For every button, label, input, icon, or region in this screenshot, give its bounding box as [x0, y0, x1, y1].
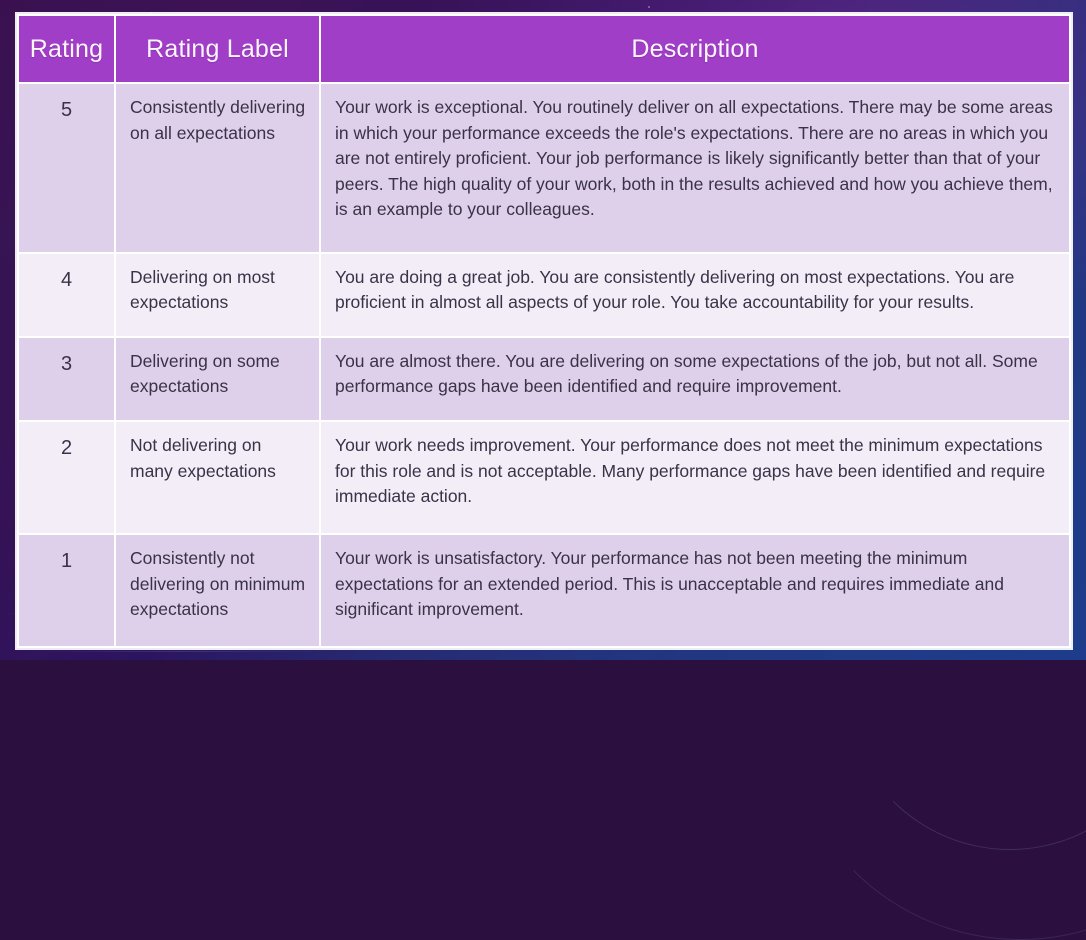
cell-description: You are almost there. You are delivering…	[320, 337, 1070, 421]
column-header-rating: Rating	[18, 15, 115, 83]
cell-rating-label: Consistently not delivering on minimum e…	[115, 534, 320, 647]
cell-rating: 3	[18, 337, 115, 421]
cell-rating: 1	[18, 534, 115, 647]
decorative-speck	[648, 6, 650, 8]
cell-rating-label: Not delivering on many expectations	[115, 421, 320, 534]
cell-rating-label: Consistently delivering on all expectati…	[115, 83, 320, 253]
table-row: 4 Delivering on most expectations You ar…	[18, 253, 1070, 337]
table-header-row: Rating Rating Label Description	[18, 15, 1070, 83]
decorative-streak	[30, 651, 330, 652]
rating-scale-table-container: Rating Rating Label Description 5 Consis…	[17, 14, 1069, 648]
table-row: 5 Consistently delivering on all expecta…	[18, 83, 1070, 253]
table-header: Rating Rating Label Description	[18, 15, 1070, 83]
cell-rating: 4	[18, 253, 115, 337]
cell-description: Your work is exceptional. You routinely …	[320, 83, 1070, 253]
cell-description: You are doing a great job. You are consi…	[320, 253, 1070, 337]
column-header-description: Description	[320, 15, 1070, 83]
table-body: 5 Consistently delivering on all expecta…	[18, 83, 1070, 647]
column-header-rating-label: Rating Label	[115, 15, 320, 83]
cell-description: Your work needs improvement. Your perfor…	[320, 421, 1070, 534]
cell-rating-label: Delivering on most expectations	[115, 253, 320, 337]
cell-rating-label: Delivering on some expectations	[115, 337, 320, 421]
rating-scale-table: Rating Rating Label Description 5 Consis…	[17, 14, 1071, 648]
cell-rating: 2	[18, 421, 115, 534]
table-row: 2 Not delivering on many expectations Yo…	[18, 421, 1070, 534]
cell-description: Your work is unsatisfactory. Your perfor…	[320, 534, 1070, 647]
table-row: 3 Delivering on some expectations You ar…	[18, 337, 1070, 421]
cell-rating: 5	[18, 83, 115, 253]
table-row: 1 Consistently not delivering on minimum…	[18, 534, 1070, 647]
